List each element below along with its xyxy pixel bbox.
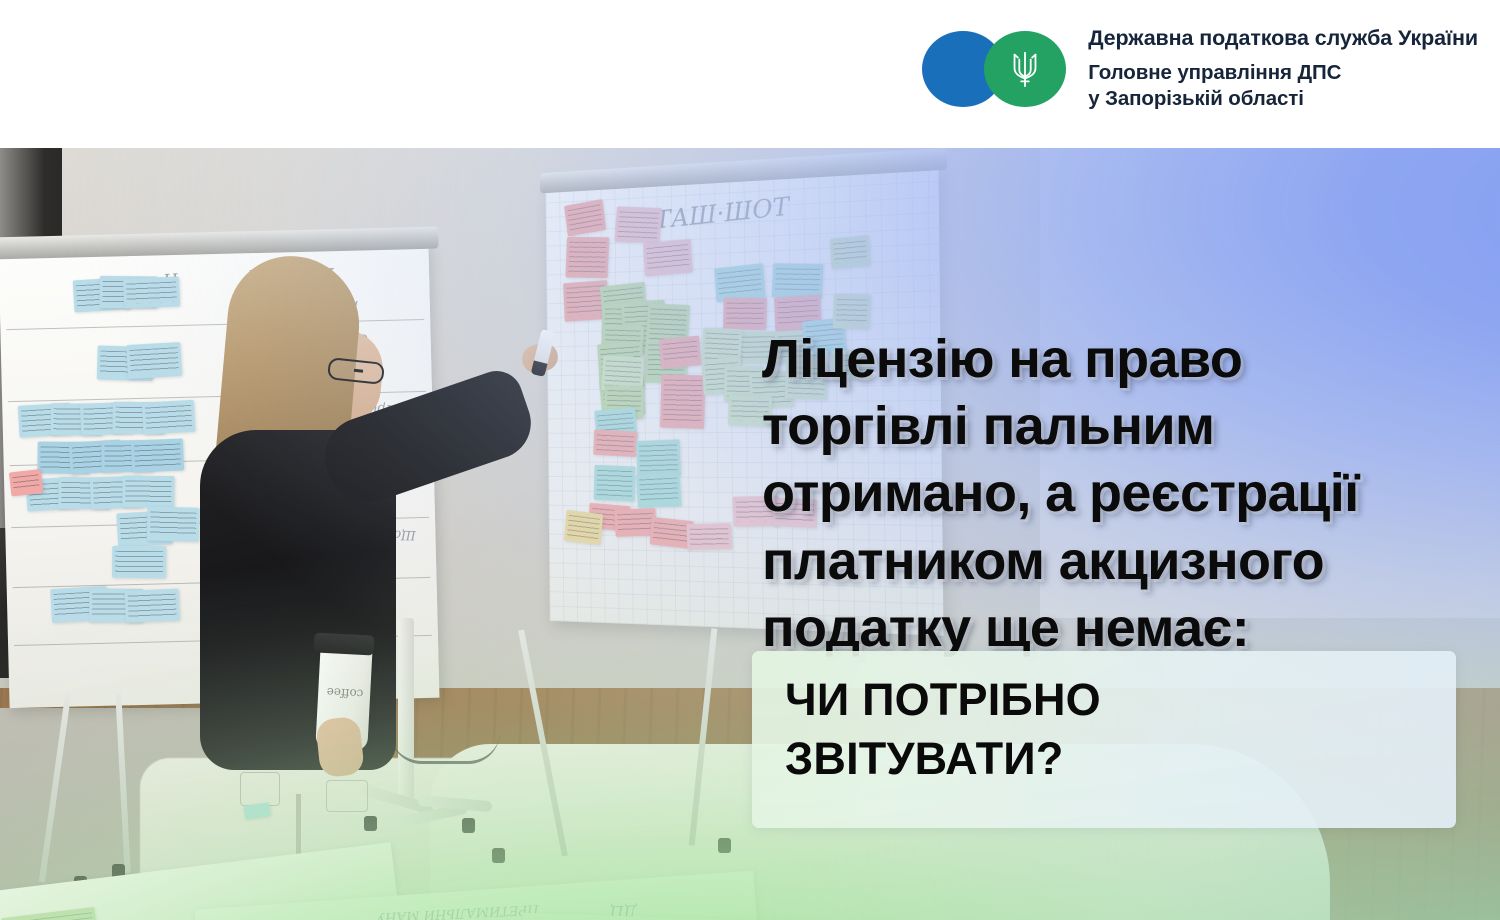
callout-line-2: ЗВІТУВАТИ? [785,730,1436,789]
sticky-note [833,294,872,330]
sticky-note-pink [9,469,43,496]
logo-green-circle-icon [984,31,1066,107]
sticky-note [122,475,174,508]
sticky-note [714,263,766,302]
sticky-note [593,430,637,458]
organization-brand: Державна податкова служба України Головн… [922,25,1478,112]
sticky-note [723,298,767,330]
headline-line-2: торгівлі пальним [762,393,1488,460]
organization-name: Державна податкова служба України Головн… [1088,25,1478,112]
headline-line-1: Ліцензію на право [762,326,1488,393]
sticky-note [660,374,705,428]
headline-line-3: отримано, а реєстрації [762,460,1488,527]
dps-logo [922,28,1072,110]
page-headline: Ліцензію на право торгівлі пальним отрим… [762,326,1488,662]
sticky-note [125,589,180,623]
sticky-note [636,439,681,476]
sticky-note [564,510,603,545]
org-title-line-1: Державна податкова служба України [1088,25,1478,53]
org-title-line-3: у Запорізькій області [1088,86,1478,112]
flipchart-foot [718,838,731,853]
sticky-note [112,546,166,579]
sticky-note [126,342,182,379]
ukraine-trident-icon [1008,49,1042,89]
callout-line-1: ЧИ ПОТРІБНО [785,671,1436,730]
sticky-note [131,438,184,472]
header-band: Державна податкова служба України Головн… [0,0,1500,148]
person-at-flipchart: coffee [178,234,478,920]
sticky-note [772,263,824,298]
sticky-note [594,465,636,502]
flipchart-foot [492,848,505,863]
org-title-line-2: Головне управління ДПС [1088,60,1478,86]
sticky-note [565,237,609,278]
headline-line-4: платником акцизного [762,528,1488,595]
coffee-cup-label: coffee [324,685,367,701]
sticky-note [659,335,701,368]
sticky-note [686,523,732,550]
trouser-pocket [240,772,280,806]
trouser-pocket [326,780,368,812]
sticky-note [636,473,682,508]
sticky-note [643,239,693,277]
sticky-note [614,206,662,243]
sticky-note [123,276,180,308]
coffee-cup-lid [314,632,375,655]
callout-text: ЧИ ПОТРІБНО ЗВІТУВАТИ? [785,671,1436,788]
sticky-note [830,235,871,269]
callout-box: ЧИ ПОТРІБНО ЗВІТУВАТИ? [752,651,1456,828]
